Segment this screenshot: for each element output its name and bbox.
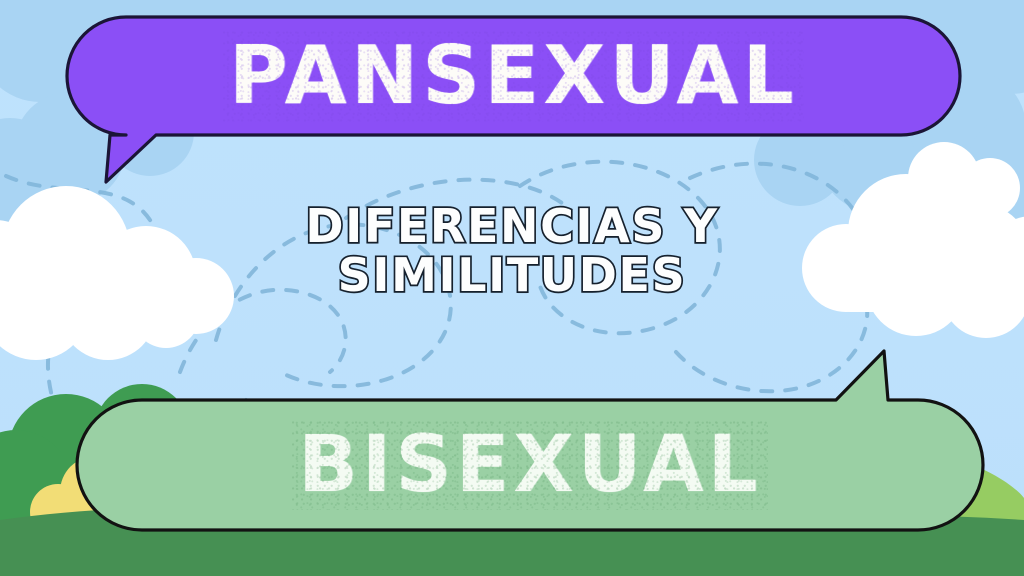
headline-line-1: DIFERENCIAS Y xyxy=(0,204,1024,249)
headline-block: DIFERENCIAS Y SIMILITUDES xyxy=(0,204,1024,297)
bisexual-speech-bubble[interactable]: BISEXUAL xyxy=(76,399,984,531)
bisexual-label: BISEXUAL xyxy=(298,426,761,504)
headline-line-2: SIMILITUDES xyxy=(0,253,1024,298)
pansexual-label: PANSEXUAL xyxy=(229,36,798,116)
poster-canvas: PANSEXUAL DIFERENCIAS Y SIMILITUDES BISE… xyxy=(0,0,1024,576)
pansexual-speech-bubble[interactable]: PANSEXUAL xyxy=(66,16,961,136)
